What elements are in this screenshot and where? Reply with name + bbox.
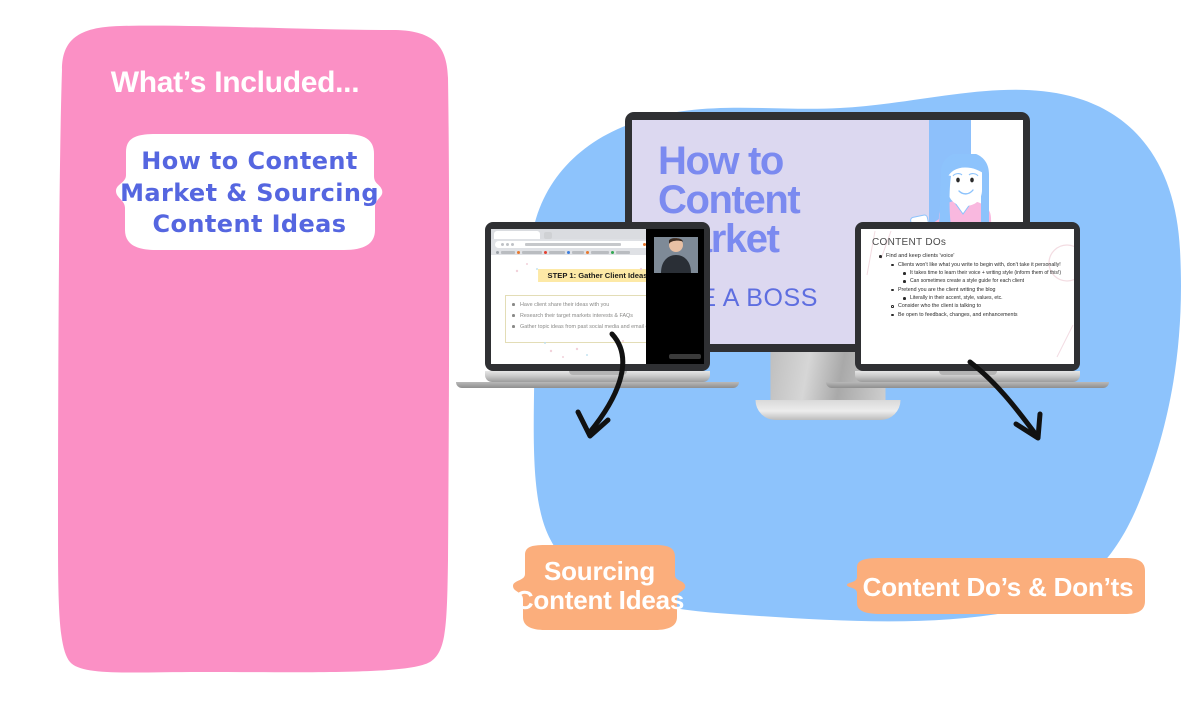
presenter-video-tile[interactable] — [646, 229, 704, 364]
promo-graphic: What’s Included... How to Content Market… — [0, 0, 1200, 705]
included-card-text: How to Content Market & Sourcing Content… — [112, 130, 387, 259]
dos-item: Literally in their accent, style, values… — [877, 295, 1068, 302]
dos-item: Find and keep clients 'voice' — [877, 253, 1068, 260]
badge-sourcing-content-ideas: Sourcing Content Ideas — [497, 543, 702, 631]
laptop-right-foot — [826, 382, 1109, 388]
card-line-3: Content Ideas — [116, 209, 383, 241]
page-title: What’s Included... — [0, 66, 470, 100]
badge-right-text: Content Do’s & Don’ts — [843, 557, 1153, 620]
laptop-right-base — [855, 371, 1080, 382]
dos-item: Can sometimes create a style guide for e… — [877, 278, 1068, 285]
dos-item: Clients won't like what you write to beg… — [877, 262, 1068, 269]
badge-left-line-2: Content Ideas — [507, 586, 692, 615]
pink-blob-shape — [0, 0, 470, 705]
browser-tab-active[interactable] — [494, 231, 540, 240]
slide-title-line-1: How to — [658, 142, 799, 181]
laptop-left-lid: STEP 1: Gather Client Ideas Have client … — [485, 222, 710, 371]
browser-new-tab-button[interactable] — [544, 232, 552, 239]
monitor-base — [755, 400, 900, 420]
laptop-left: STEP 1: Gather Client Ideas Have client … — [470, 222, 725, 388]
laptop-right: CONTENT DOs Find and keep clients 'voice… — [840, 222, 1095, 388]
badge-left-line-1: Sourcing — [507, 557, 692, 586]
laptop-right-lid: CONTENT DOs Find and keep clients 'voice… — [855, 222, 1080, 371]
dos-item: Pretend you are the client writing the b… — [877, 287, 1068, 294]
presenter-name-plate — [669, 354, 701, 359]
badge-left-text: Sourcing Content Ideas — [497, 543, 702, 631]
badge-right-line-1: Content Do’s & Don’ts — [855, 573, 1141, 602]
laptop-left-foot — [456, 382, 739, 388]
dos-item: It takes time to learn their voice + wri… — [877, 270, 1068, 277]
content-dos-title: CONTENT DOs — [872, 237, 946, 248]
dos-item: Consider who the client is talking to — [877, 303, 1068, 310]
presenter-avatar — [654, 237, 698, 273]
laptop-right-screen: CONTENT DOs Find and keep clients 'voice… — [861, 229, 1074, 364]
content-dos-list: Find and keep clients 'voice' Clients wo… — [877, 253, 1068, 320]
slide-title-line-2: Content — [658, 181, 799, 220]
card-line-2: Market & Sourcing — [116, 178, 383, 210]
card-line-1: How to Content — [116, 146, 383, 178]
laptop-left-base — [485, 371, 710, 382]
laptop-left-screen: STEP 1: Gather Client Ideas Have client … — [491, 229, 704, 364]
pink-panel: What’s Included... How to Content Market… — [0, 0, 470, 705]
included-card: How to Content Market & Sourcing Content… — [112, 130, 387, 259]
dos-item: Be open to feedback, changes, and enhanc… — [877, 312, 1068, 319]
badge-content-dos-donts: Content Do’s & Don’ts — [843, 557, 1153, 620]
